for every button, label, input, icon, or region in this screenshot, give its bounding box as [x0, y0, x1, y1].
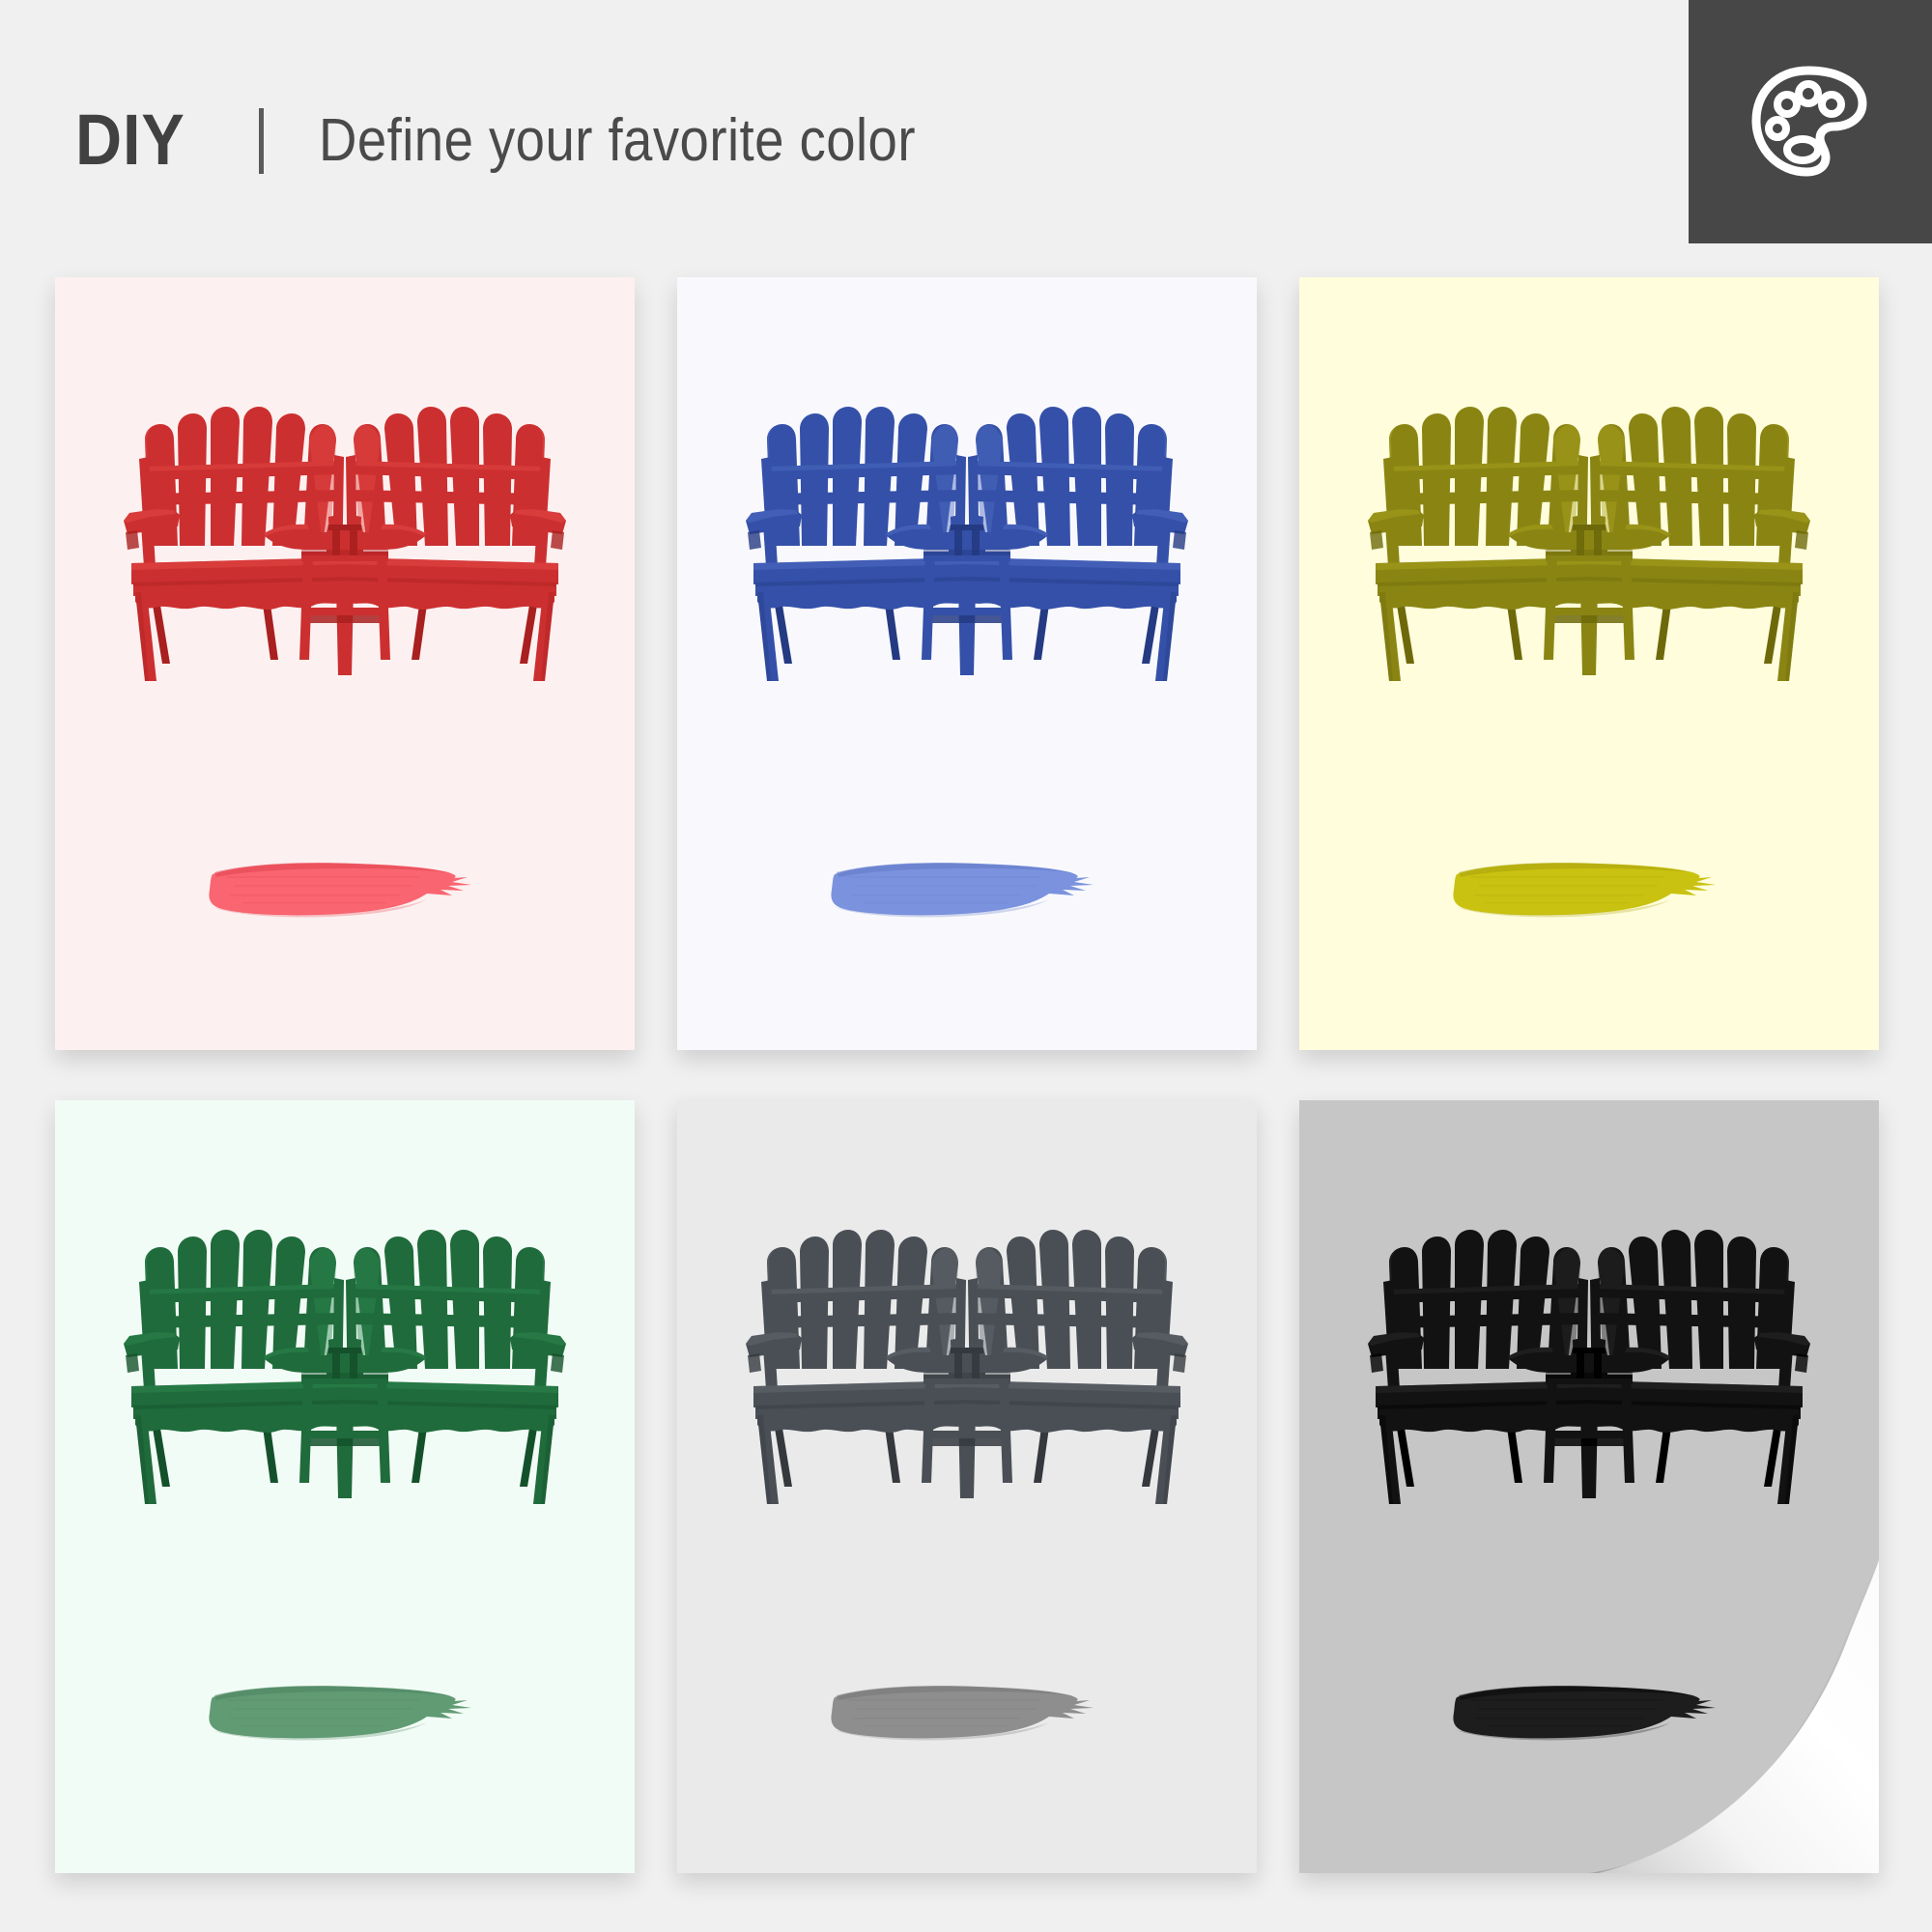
paint-brush-stroke-icon — [1449, 1678, 1729, 1757]
page-header: DIY Define your favorite color — [0, 0, 1932, 246]
color-card-yellow[interactable] — [1299, 277, 1879, 1050]
paint-brush-stroke-icon — [827, 1678, 1107, 1757]
twin-adirondack-chairs-icon — [1362, 401, 1816, 720]
color-card-green[interactable] — [55, 1100, 635, 1873]
twin-adirondack-chairs-icon — [740, 401, 1194, 720]
paint-brush-stroke-icon — [205, 1678, 485, 1757]
color-card-blue[interactable] — [677, 277, 1257, 1050]
twin-adirondack-chairs-icon — [1362, 1224, 1816, 1543]
color-variant-grid — [55, 277, 1879, 1895]
twin-adirondack-chairs-icon — [740, 1224, 1194, 1543]
color-card-gray[interactable] — [677, 1100, 1257, 1873]
twin-adirondack-chairs-icon — [118, 1224, 572, 1543]
title-divider — [259, 108, 264, 174]
page-title: DIY — [75, 104, 185, 176]
page-subtitle: Define your favorite color — [319, 106, 916, 176]
paint-brush-stroke-icon — [1449, 855, 1729, 934]
color-card-black[interactable] — [1299, 1100, 1879, 1873]
page-root: DIY Define your favorite color — [0, 0, 1932, 1932]
paint-brush-stroke-icon — [827, 855, 1107, 934]
color-card-red[interactable] — [55, 277, 635, 1050]
paint-brush-stroke-icon — [205, 855, 485, 934]
twin-adirondack-chairs-icon — [118, 401, 572, 720]
palette-badge — [1689, 0, 1932, 243]
